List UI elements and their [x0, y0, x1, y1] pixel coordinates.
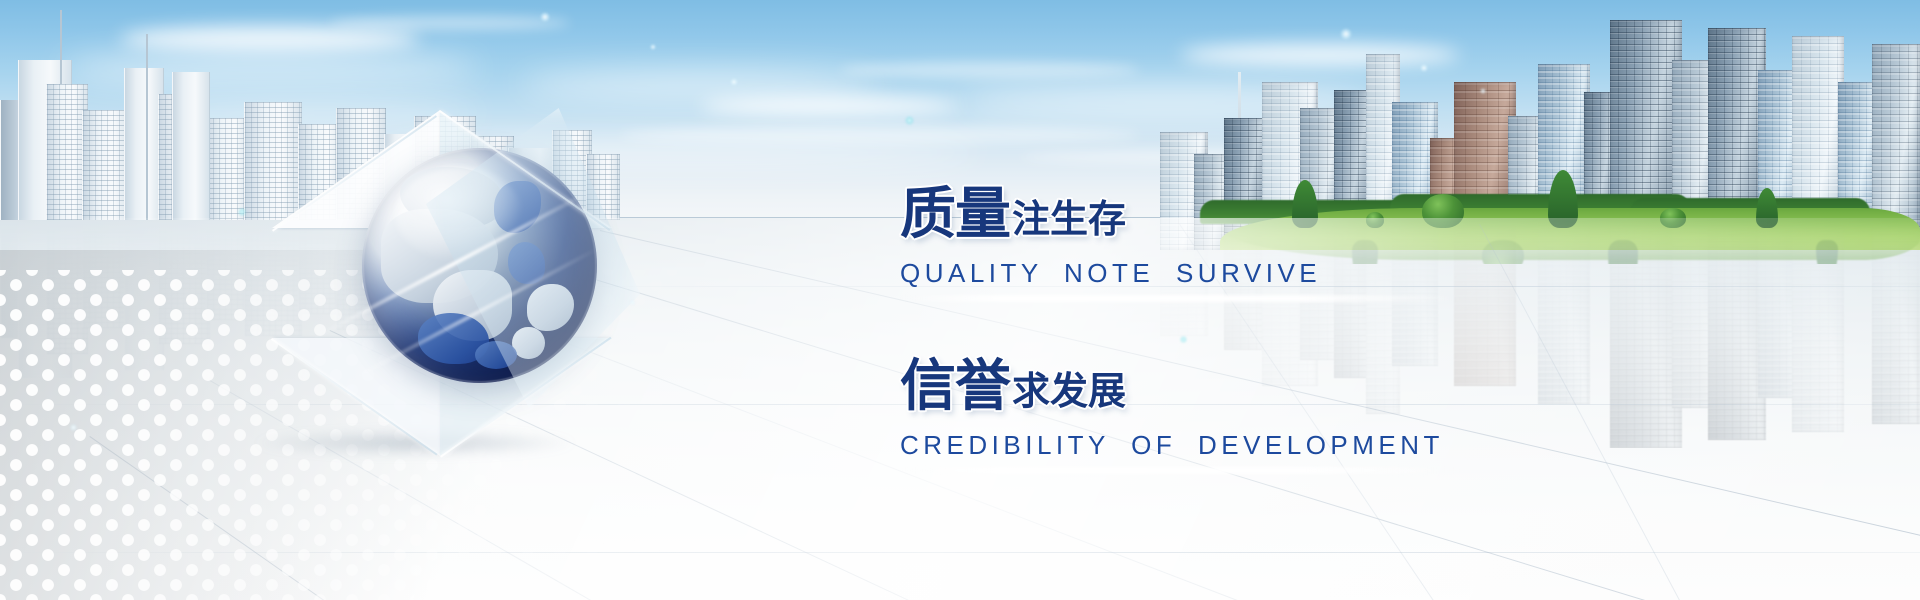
slogan-2-chinese-rest: 求发展: [1012, 373, 1126, 414]
bokeh-dot: [650, 44, 656, 50]
slogan-1-chinese: 质量 注生存: [900, 186, 1520, 242]
bokeh-dot: [730, 78, 738, 86]
marketing-banner: 质量 注生存 QUALITY NOTE SURVIVE 信誉 求发展 CREDI…: [0, 0, 1920, 600]
slogan-secondary: 信誉 求发展 CREDIBILITY OF DEVELOPMENT: [900, 358, 1520, 474]
bokeh-dot: [905, 116, 914, 125]
slogan-primary: 质量 注生存 QUALITY NOTE SURVIVE: [900, 186, 1520, 302]
glass-cube: [250, 88, 670, 468]
cloud: [700, 96, 960, 116]
bokeh-dot: [238, 208, 246, 216]
bokeh-dot: [630, 300, 635, 305]
slogan-1-chinese-rest: 注生存: [1012, 201, 1126, 242]
slogan-2-english: CREDIBILITY OF DEVELOPMENT: [900, 430, 1520, 461]
slogan-1-underglow: [900, 295, 1460, 302]
slogan-2-chinese-emphasis: 信誉: [900, 358, 1010, 414]
bokeh-dot: [1480, 88, 1486, 94]
cloud: [840, 62, 1140, 78]
slogan-2-chinese: 信誉 求发展: [900, 358, 1520, 414]
bokeh-dot: [540, 12, 550, 22]
bokeh-dot: [1340, 28, 1352, 40]
slogan-block: 质量 注生存 QUALITY NOTE SURVIVE 信誉 求发展 CREDI…: [900, 186, 1520, 474]
bokeh-dot: [70, 424, 77, 431]
slogan-1-english: QUALITY NOTE SURVIVE: [900, 258, 1520, 289]
bokeh-dot: [1420, 64, 1428, 72]
slogan-2-underglow: [900, 467, 1460, 474]
slogan-1-chinese-emphasis: 质量: [900, 186, 1010, 242]
